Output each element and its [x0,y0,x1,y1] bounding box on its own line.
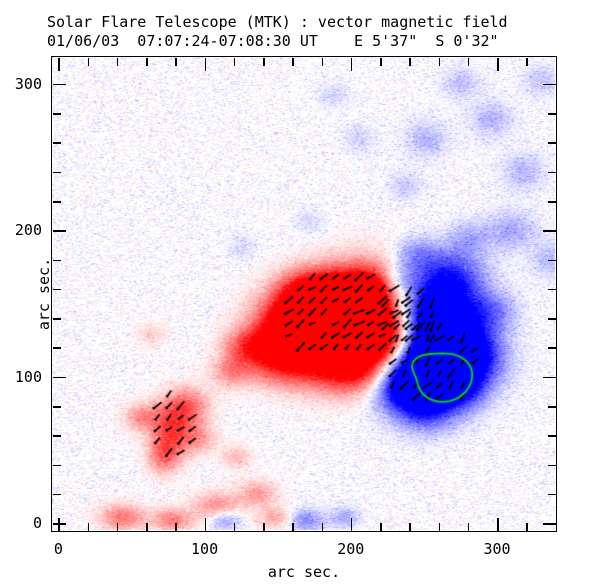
y-tick-right [548,406,556,408]
y-tick-right [548,142,556,144]
x-tick-top [88,58,90,66]
x-tick-label: 200 [337,540,364,558]
y-tick [53,172,61,174]
x-tick [380,523,382,531]
y-tick [53,318,61,320]
x-tick [468,523,470,531]
magnetogram-image [52,57,555,530]
y-tick [53,347,61,349]
y-tick-right [548,465,556,467]
y-tick-right [548,347,556,349]
x-tick [556,523,558,531]
x-tick-top [351,58,353,71]
x-tick [409,523,411,531]
y-tick-right [543,377,556,379]
x-tick-top [234,58,236,66]
magnetogram-figure: Solar Flare Telescope (MTK) : vector mag… [0,0,612,585]
x-tick-top [322,58,324,66]
figure-subtitle: 01/06/03 07:07:24-07:08:30 UT E 5'37" S … [47,32,499,50]
x-tick-top [175,58,177,66]
x-tick-top [146,58,148,66]
y-tick [53,260,61,262]
x-tick [117,523,119,531]
y-tick [53,435,61,437]
y-tick [53,523,66,525]
y-tick [53,494,61,496]
y-tick-right [548,113,556,115]
x-tick-top [439,58,441,66]
x-tick-top [58,58,60,71]
y-tick-right [543,84,556,86]
y-axis-title: arc sec. [35,258,53,330]
y-tick [53,84,66,86]
y-tick [53,201,61,203]
x-tick [322,523,324,531]
x-tick-label: 0 [54,540,63,558]
y-tick-right [543,230,556,232]
x-tick [146,523,148,531]
x-tick-top [468,58,470,66]
y-tick [53,406,61,408]
x-tick [292,523,294,531]
y-tick-label: 0 [0,514,42,532]
x-tick [263,523,265,531]
x-axis-title: arc sec. [268,563,340,581]
y-tick [53,377,66,379]
y-tick-right [548,289,556,291]
plot-area [51,56,557,532]
y-tick-label: 200 [0,221,42,239]
x-tick [526,523,528,531]
x-tick-top [292,58,294,66]
x-tick-top [526,58,528,66]
x-tick-top [117,58,119,66]
x-tick-top [556,58,558,66]
x-tick [497,518,499,531]
y-tick [53,289,61,291]
y-tick-right [543,523,556,525]
x-tick [234,523,236,531]
x-tick-top [205,58,207,71]
y-tick-right [548,201,556,203]
y-tick-right [548,318,556,320]
x-tick [88,523,90,531]
y-tick [53,113,61,115]
x-tick-top [263,58,265,66]
x-tick-label: 300 [483,540,510,558]
y-tick-right [548,260,556,262]
x-tick-top [409,58,411,66]
x-tick-top [380,58,382,66]
y-tick [53,230,66,232]
x-tick [351,518,353,531]
y-tick-right [548,172,556,174]
y-tick-right [548,435,556,437]
y-tick [53,142,61,144]
y-tick-right [548,494,556,496]
y-tick-label: 300 [0,75,42,93]
figure-title: Solar Flare Telescope (MTK) : vector mag… [47,13,508,31]
x-tick [205,518,207,531]
x-tick-top [497,58,499,71]
y-tick [53,465,61,467]
y-tick-label: 100 [0,368,42,386]
x-tick-label: 100 [191,540,218,558]
x-tick [175,523,177,531]
x-tick [439,523,441,531]
